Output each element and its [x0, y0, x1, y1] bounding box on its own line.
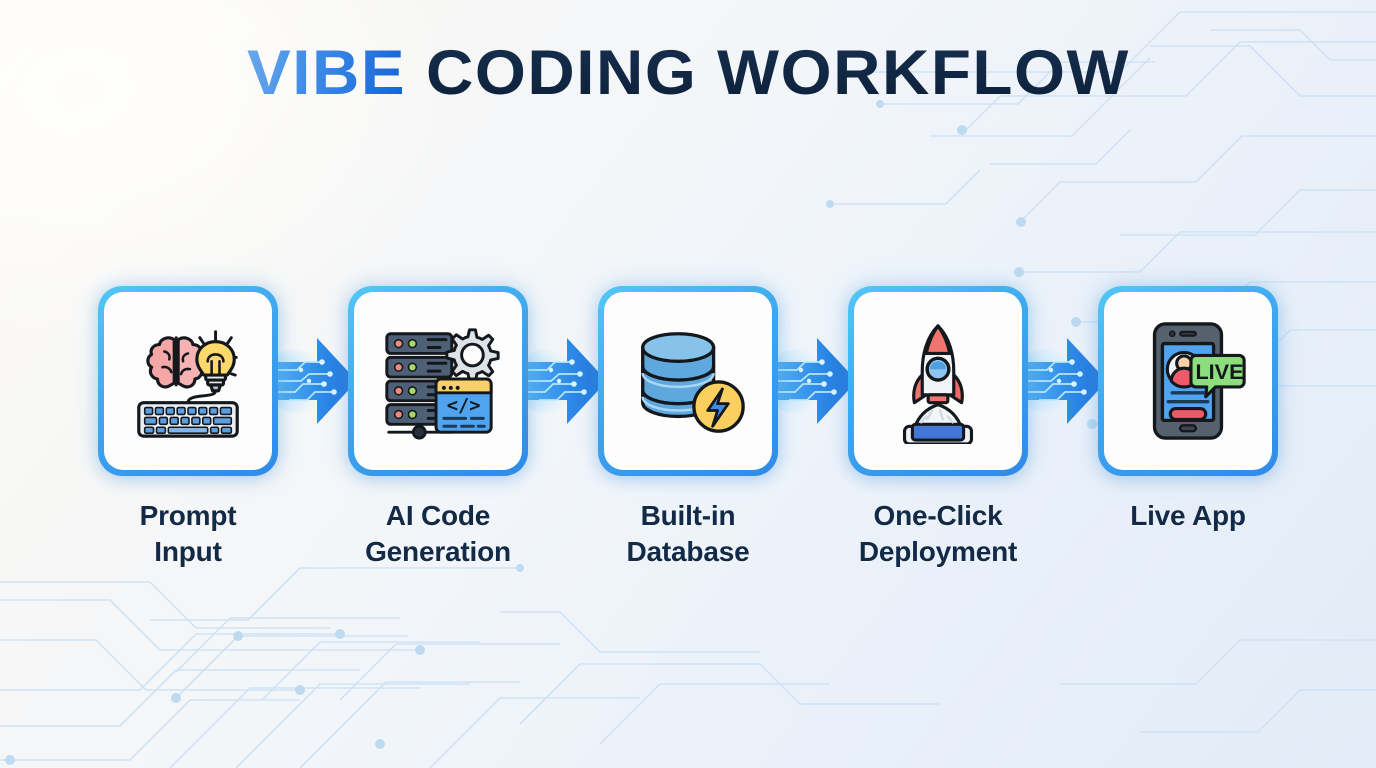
step-label: AI Code Generation — [365, 498, 511, 571]
step-label-line1: Live App — [1130, 498, 1246, 534]
step-label: One-Click Deployment — [859, 498, 1017, 571]
flow-connector-3 — [778, 286, 848, 476]
step-label-line2: Deployment — [859, 534, 1017, 570]
workflow-step-prompt-input[interactable]: Prompt Input — [98, 286, 278, 571]
step-card[interactable] — [598, 286, 778, 476]
step-label-line1: AI Code — [365, 498, 511, 534]
workflow-step-live-app[interactable]: LIVE Live App — [1098, 286, 1278, 534]
title-accent: VIBE — [247, 38, 406, 108]
live-badge-text: LIVE — [1195, 359, 1243, 384]
circuit-arrow-right-icon — [517, 326, 609, 436]
circuit-arrow-right-icon — [1017, 326, 1109, 436]
page-title: VIBE CODING WORKFLOW — [0, 42, 1376, 105]
step-label-line2: Database — [627, 534, 750, 570]
step-card[interactable]: </> — [348, 286, 528, 476]
step-label-line1: One-Click — [859, 498, 1017, 534]
workflow-diagram: Prompt Input — [0, 286, 1376, 571]
flow-connector-1 — [278, 286, 348, 476]
brain-lightbulb-keyboard-icon — [125, 318, 251, 444]
rocket-launchpad-icon — [875, 318, 1001, 444]
flow-connector-4 — [1028, 286, 1098, 476]
workflow-step-one-click-deployment[interactable]: One-Click Deployment — [848, 286, 1028, 571]
server-gear-code-window-icon: </> — [375, 318, 501, 444]
circuit-arrow-right-icon — [267, 326, 359, 436]
circuit-arrow-right-icon — [767, 326, 859, 436]
step-label-line1: Prompt — [140, 498, 237, 534]
step-card[interactable] — [848, 286, 1028, 476]
flow-connector-2 — [528, 286, 598, 476]
step-label: Built-in Database — [627, 498, 750, 571]
step-card[interactable]: LIVE — [1098, 286, 1278, 476]
smartphone-live-badge-icon: LIVE — [1125, 318, 1251, 444]
step-card[interactable] — [98, 286, 278, 476]
step-label: Prompt Input — [140, 498, 237, 571]
workflow-step-ai-code-generation[interactable]: </> AI Code Generation — [348, 286, 528, 571]
step-label-line2: Generation — [365, 534, 511, 570]
step-label-line1: Built-in — [627, 498, 750, 534]
title-rest: CODING WORKFLOW — [425, 38, 1129, 108]
step-label: Live App — [1130, 498, 1246, 534]
database-lightning-icon — [625, 318, 751, 444]
workflow-step-built-in-database[interactable]: Built-in Database — [598, 286, 778, 571]
step-label-line2: Input — [140, 534, 237, 570]
code-symbol: </> — [447, 396, 481, 417]
